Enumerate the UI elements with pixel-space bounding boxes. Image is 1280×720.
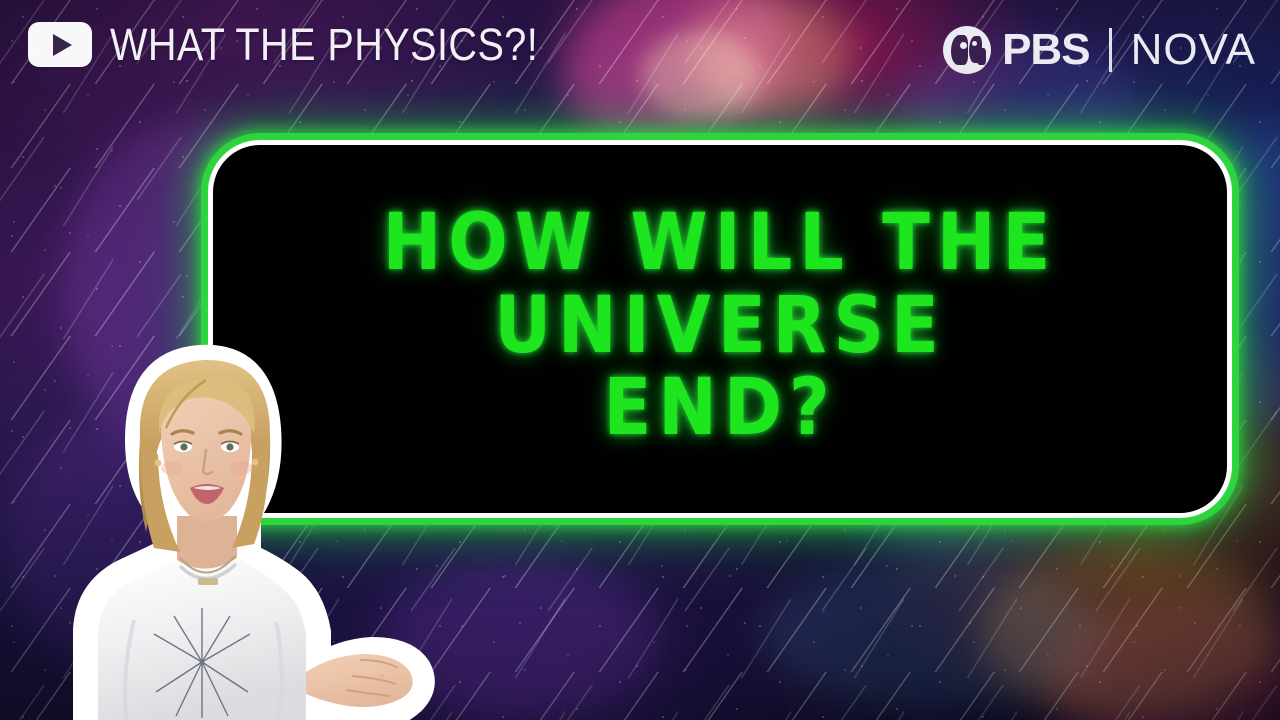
pbs-head-shape-3	[976, 48, 986, 65]
play-triangle-icon	[53, 34, 72, 56]
network-branding: PBS NOVA	[943, 26, 1256, 74]
logo-divider	[1109, 28, 1112, 72]
nova-wordmark: NOVA	[1131, 28, 1256, 72]
title-line-1: HOW WILL THE	[383, 201, 1058, 283]
title-card: HOW WILL THE UNIVERSE END?	[208, 140, 1232, 518]
title-line-3: END?	[603, 367, 836, 449]
title-line-2: UNIVERSE	[494, 284, 946, 366]
video-thumbnail: WHAT THE PHYSICS?! PBS NOVA HOW WILL THE…	[0, 0, 1280, 720]
youtube-play-icon	[28, 22, 92, 67]
pbs-head-shape	[951, 35, 968, 65]
show-branding: WHAT THE PHYSICS?!	[28, 22, 597, 67]
pbs-wordmark: PBS	[1002, 28, 1089, 72]
show-title: WHAT THE PHYSICS?!	[110, 22, 538, 67]
pbs-circle-head-icon	[943, 26, 991, 74]
